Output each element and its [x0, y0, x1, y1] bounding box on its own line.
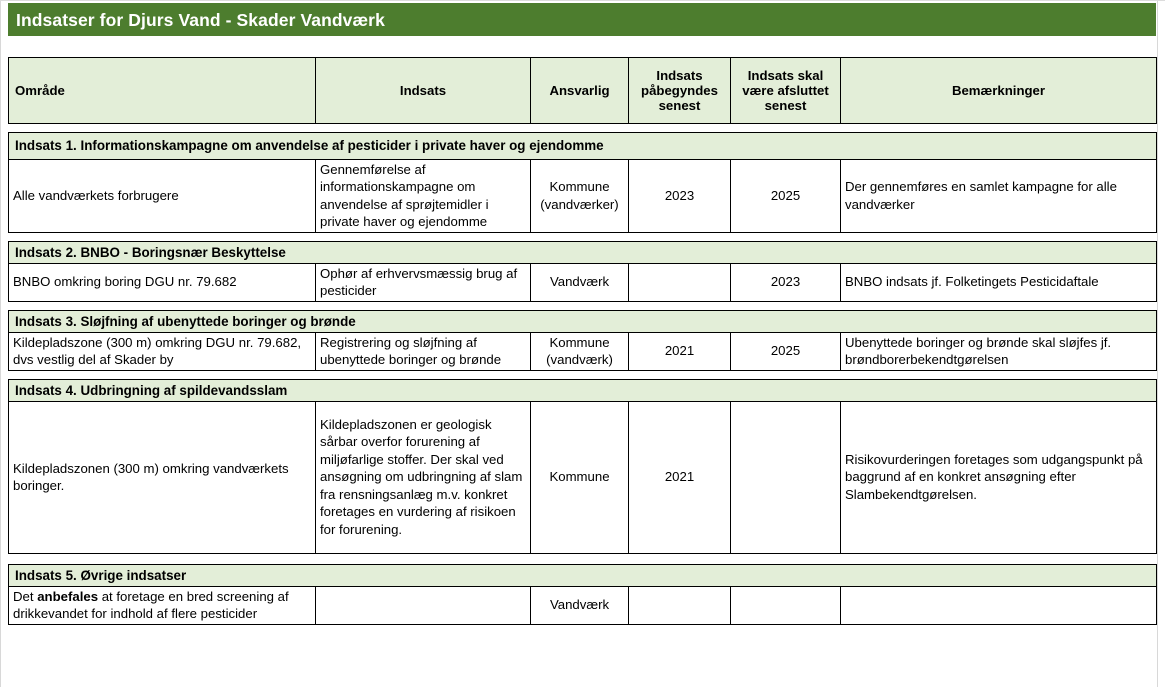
- section-heading-indsats-4[interactable]: Indsats 4. Udbringning af spildevandssla…: [9, 379, 1157, 401]
- column-header-bemaerkninger[interactable]: Bemærkninger: [841, 58, 1157, 124]
- table-spacer-cell: [9, 124, 1157, 133]
- section-heading-indsats-5[interactable]: Indsats 5. Øvrige indsatser: [9, 564, 1157, 586]
- grid-line-vertical: [0, 0, 1, 687]
- cell-start-year[interactable]: 2023: [629, 159, 731, 232]
- cell-start-year[interactable]: [629, 586, 731, 624]
- cell-omraade[interactable]: Det anbefales at foretage en bred screen…: [9, 586, 316, 624]
- cell-indsats[interactable]: Kildepladszonen er geologisk sårbar over…: [316, 401, 531, 553]
- table-spacer-cell: [9, 232, 1157, 241]
- section-header-row: Indsats 2. BNBO - Boringsnær Beskyttelse: [9, 241, 1157, 263]
- cell-ansvarlig[interactable]: Kommune (vandværk): [531, 332, 629, 370]
- title-table-spacer: [8, 37, 1156, 57]
- cell-omraade[interactable]: Kildepladszone (300 m) omkring DGU nr. 7…: [9, 332, 316, 370]
- cell-end-year[interactable]: 2025: [731, 159, 841, 232]
- column-header-ansvarlig[interactable]: Ansvarlig: [531, 58, 629, 124]
- table-header-row: Område Indsats Ansvarlig Indsats påbegyn…: [9, 58, 1157, 124]
- cell-omraade[interactable]: Kildepladszonen (300 m) omkring vandværk…: [9, 401, 316, 553]
- cell-indsats[interactable]: [316, 586, 531, 624]
- document-title-bar: Indsatser for Djurs Vand - Skader Vandvæ…: [8, 3, 1156, 37]
- cell-omraade[interactable]: Alle vandværkets forbrugere: [9, 159, 316, 232]
- cell-omraade-emphasis: anbefales: [37, 589, 98, 604]
- cell-indsats[interactable]: Gennemførelse af informationskampagne om…: [316, 159, 531, 232]
- column-header-start[interactable]: Indsats påbegyndes senest: [629, 58, 731, 124]
- cell-end-year[interactable]: 2023: [731, 263, 841, 301]
- table-spacer-cell: [9, 553, 1157, 564]
- cell-omraade[interactable]: BNBO omkring boring DGU nr. 79.682: [9, 263, 316, 301]
- cell-bemaerkninger[interactable]: Der gennemføres en samlet kampagne for a…: [841, 159, 1157, 232]
- table-spacer-cell: [9, 301, 1157, 310]
- table-row: Kildepladszonen (300 m) omkring vandværk…: [9, 401, 1157, 553]
- table-body: Indsats 1. Informationskampagne om anven…: [9, 124, 1157, 625]
- cell-start-year[interactable]: 2021: [629, 332, 731, 370]
- table-header: Område Indsats Ansvarlig Indsats påbegyn…: [9, 58, 1157, 124]
- cell-indsats[interactable]: Ophør af erhvervsmæssig brug af pesticid…: [316, 263, 531, 301]
- column-header-indsats[interactable]: Indsats: [316, 58, 531, 124]
- section-header-row: Indsats 3. Sløjfning af ubenyttede borin…: [9, 310, 1157, 332]
- cell-end-year[interactable]: [731, 401, 841, 553]
- section-heading-indsats-1[interactable]: Indsats 1. Informationskampagne om anven…: [9, 133, 1157, 160]
- document-body: Indsatser for Djurs Vand - Skader Vandvæ…: [8, 3, 1156, 625]
- table-spacer-row: [9, 370, 1157, 379]
- table-spacer-row: [9, 232, 1157, 241]
- cell-bemaerkninger[interactable]: Ubenyttede boringer og brønde skal sløjf…: [841, 332, 1157, 370]
- table-spacer-cell: [9, 370, 1157, 379]
- table-spacer-row: [9, 301, 1157, 310]
- column-header-slut[interactable]: Indsats skal være afsluttet senest: [731, 58, 841, 124]
- cell-ansvarlig[interactable]: Vandværk: [531, 586, 629, 624]
- column-header-omraade[interactable]: Område: [9, 58, 316, 124]
- table-row: Kildepladszone (300 m) omkring DGU nr. 7…: [9, 332, 1157, 370]
- spreadsheet-canvas: Indsatser for Djurs Vand - Skader Vandvæ…: [0, 0, 1165, 687]
- section-header-row: Indsats 5. Øvrige indsatser: [9, 564, 1157, 586]
- cell-start-year[interactable]: [629, 263, 731, 301]
- grid-line-vertical: [1157, 0, 1158, 687]
- table-spacer-row: [9, 124, 1157, 133]
- cell-start-year[interactable]: 2021: [629, 401, 731, 553]
- cell-end-year[interactable]: [731, 586, 841, 624]
- cell-end-year[interactable]: 2025: [731, 332, 841, 370]
- page-title: Indsatser for Djurs Vand - Skader Vandvæ…: [16, 10, 385, 30]
- cell-bemaerkninger[interactable]: Risikovurderingen foretages som udgangsp…: [841, 401, 1157, 553]
- section-header-row: Indsats 4. Udbringning af spildevandssla…: [9, 379, 1157, 401]
- cell-ansvarlig[interactable]: Kommune: [531, 401, 629, 553]
- cell-omraade-prefix: Det: [13, 589, 37, 604]
- section-heading-indsats-2[interactable]: Indsats 2. BNBO - Boringsnær Beskyttelse: [9, 241, 1157, 263]
- table-spacer-row: [9, 553, 1157, 564]
- indsatser-table: Område Indsats Ansvarlig Indsats påbegyn…: [8, 57, 1157, 625]
- table-row: BNBO omkring boring DGU nr. 79.682 Ophør…: [9, 263, 1157, 301]
- cell-bemaerkninger[interactable]: BNBO indsats jf. Folketingets Pesticidaf…: [841, 263, 1157, 301]
- section-heading-indsats-3[interactable]: Indsats 3. Sløjfning af ubenyttede borin…: [9, 310, 1157, 332]
- cell-indsats[interactable]: Registrering og sløjfning af ubenyttede …: [316, 332, 531, 370]
- cell-bemaerkninger[interactable]: [841, 586, 1157, 624]
- cell-ansvarlig[interactable]: Kommune (vandværker): [531, 159, 629, 232]
- cell-ansvarlig[interactable]: Vandværk: [531, 263, 629, 301]
- table-row: Det anbefales at foretage en bred screen…: [9, 586, 1157, 624]
- section-header-row: Indsats 1. Informationskampagne om anven…: [9, 133, 1157, 160]
- table-row: Alle vandværkets forbrugere Gennemførels…: [9, 159, 1157, 232]
- grid-line-horizontal: [0, 0, 1165, 1]
